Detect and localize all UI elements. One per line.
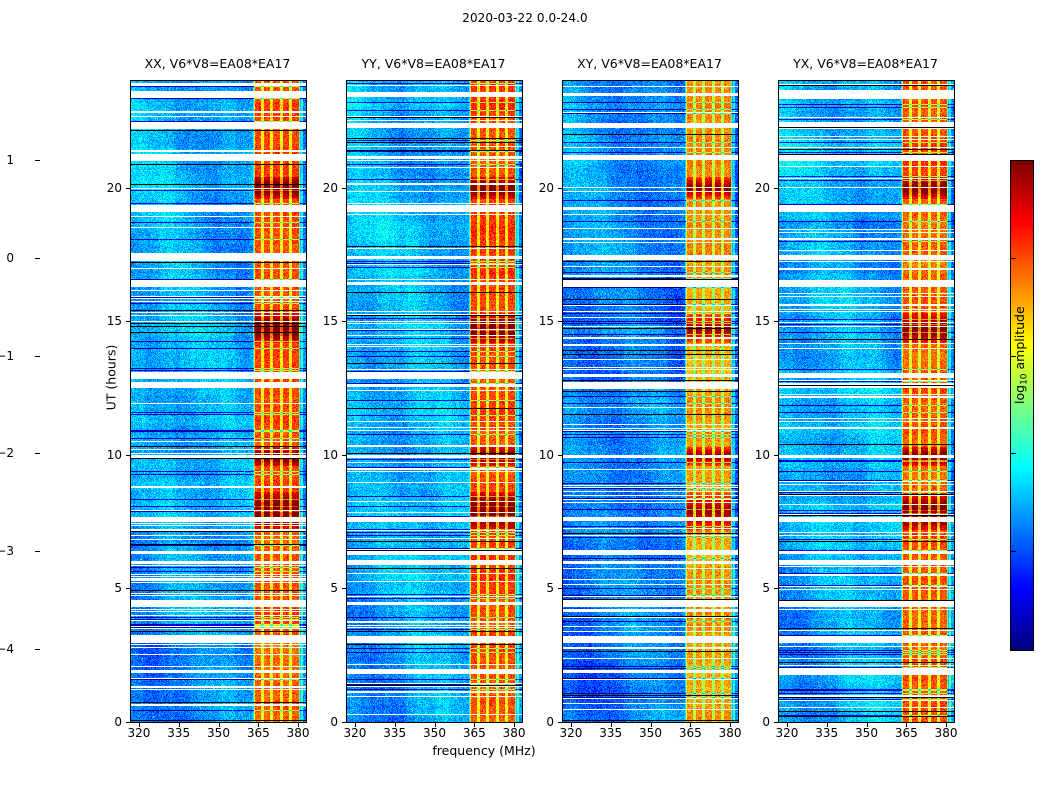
- spectrum-canvas: [131, 81, 306, 722]
- y-tick-label: 5: [306, 581, 338, 595]
- spectrum-panel-xx[interactable]: [130, 80, 307, 723]
- x-tick-label: 335: [815, 726, 838, 740]
- colorbar-tick-label: −2: [0, 446, 14, 460]
- y-tickmark: [126, 455, 130, 456]
- y-tick-label: 0: [738, 715, 770, 729]
- colorbar-tickmark: [35, 649, 40, 650]
- y-tick-label: 5: [738, 581, 770, 595]
- colorbar-tickmark: [35, 551, 40, 552]
- y-tick-label: 20: [738, 181, 770, 195]
- y-tick-label: 0: [306, 715, 338, 729]
- y-tickmark: [774, 188, 778, 189]
- y-tickmark: [342, 455, 346, 456]
- x-tick-label: 365: [247, 726, 270, 740]
- y-tickmark: [342, 722, 346, 723]
- spectrum-image-yx: [779, 81, 954, 722]
- colorbar-tickmark: [35, 453, 40, 454]
- x-axis-label: frequency (MHz): [394, 743, 574, 758]
- x-tick-label: 320: [344, 726, 367, 740]
- y-tickmark: [126, 188, 130, 189]
- x-tick-label: 320: [128, 726, 151, 740]
- x-tick-label: 335: [383, 726, 406, 740]
- colorbar-tick-label: 1: [6, 153, 14, 167]
- colorbar-label-prefix: log: [1012, 385, 1027, 404]
- x-tick-label: 320: [560, 726, 583, 740]
- colorbar-tick-label: −1: [0, 349, 14, 363]
- y-tick-label: 15: [306, 314, 338, 328]
- y-tickmark: [126, 321, 130, 322]
- colorbar-label-suffix: amplitude: [1012, 306, 1027, 373]
- spectrum-image-xx: [131, 81, 306, 722]
- y-tickmark: [342, 588, 346, 589]
- spectrum-image-xy: [563, 81, 738, 722]
- y-tick-label: 0: [90, 715, 122, 729]
- colorbar-tickmark: [1011, 453, 1016, 454]
- y-tickmark: [774, 455, 778, 456]
- x-tick-label: 350: [207, 726, 230, 740]
- x-tick-label: 350: [423, 726, 446, 740]
- spectrum-canvas: [347, 81, 522, 722]
- x-tick-label: 365: [895, 726, 918, 740]
- y-tick-label: 5: [90, 581, 122, 595]
- panel-title-yx: YX, V6*V8=EA08*EA17: [778, 56, 953, 71]
- y-tickmark: [774, 588, 778, 589]
- y-tick-label: 10: [738, 448, 770, 462]
- spectrum-canvas: [779, 81, 954, 722]
- x-tick-label: 320: [776, 726, 799, 740]
- x-tick-label: 335: [599, 726, 622, 740]
- colorbar-tickmark: [1011, 258, 1016, 259]
- colorbar-tickmark: [1011, 160, 1016, 161]
- colorbar: [1010, 160, 1034, 651]
- colorbar-label: log10 amplitude: [1012, 306, 1029, 404]
- colorbar-tickmark: [35, 258, 40, 259]
- y-tickmark: [126, 722, 130, 723]
- y-tickmark: [558, 588, 562, 589]
- y-tickmark: [126, 588, 130, 589]
- panel-title-xx: XX, V6*V8=EA08*EA17: [130, 56, 305, 71]
- panel-title-yy: YY, V6*V8=EA08*EA17: [346, 56, 521, 71]
- y-tick-label: 10: [306, 448, 338, 462]
- x-tick-label: 365: [679, 726, 702, 740]
- colorbar-label-subscript: 10: [1019, 373, 1029, 384]
- y-tick-label: 15: [522, 314, 554, 328]
- spectrum-panel-xy[interactable]: [562, 80, 739, 723]
- y-tickmark: [774, 722, 778, 723]
- y-tick-label: 20: [306, 181, 338, 195]
- colorbar-tickmark: [1011, 649, 1016, 650]
- y-tickmark: [558, 455, 562, 456]
- y-tick-label: 20: [522, 181, 554, 195]
- y-tickmark: [774, 321, 778, 322]
- y-tick-label: 10: [90, 448, 122, 462]
- colorbar-tickmark: [1011, 551, 1016, 552]
- y-tickmark: [342, 188, 346, 189]
- colorbar-tick-label: −4: [0, 642, 14, 656]
- colorbar-tick-label: −3: [0, 544, 14, 558]
- panel-title-xy: XY, V6*V8=EA08*EA17: [562, 56, 737, 71]
- x-tick-label: 380: [935, 726, 958, 740]
- spectrum-image-yy: [347, 81, 522, 722]
- y-tick-label: 20: [90, 181, 122, 195]
- spectrum-panel-yy[interactable]: [346, 80, 523, 723]
- x-tick-label: 350: [639, 726, 662, 740]
- y-tick-label: 15: [738, 314, 770, 328]
- spectrum-canvas: [563, 81, 738, 722]
- y-tick-label: 0: [522, 715, 554, 729]
- y-tickmark: [558, 722, 562, 723]
- colorbar-tick-label: 0: [6, 251, 14, 265]
- figure-suptitle: 2020-03-22 0.0-24.0: [0, 11, 1050, 25]
- colorbar-gradient: [1011, 161, 1033, 650]
- y-tickmark: [558, 188, 562, 189]
- y-tick-label: 10: [522, 448, 554, 462]
- y-tickmark: [558, 321, 562, 322]
- colorbar-tickmark: [35, 356, 40, 357]
- y-tick-label: 15: [90, 314, 122, 328]
- figure-canvas: 2020-03-22 0.0-24.0 XX, V6*V8=EA08*EA17Y…: [0, 0, 1050, 800]
- y-tick-label: 5: [522, 581, 554, 595]
- x-tick-label: 350: [855, 726, 878, 740]
- spectrum-panel-yx[interactable]: [778, 80, 955, 723]
- x-tick-label: 335: [167, 726, 190, 740]
- colorbar-tickmark: [35, 160, 40, 161]
- y-tickmark: [342, 321, 346, 322]
- x-tick-label: 365: [463, 726, 486, 740]
- y-axis-label: UT (hours): [103, 345, 118, 411]
